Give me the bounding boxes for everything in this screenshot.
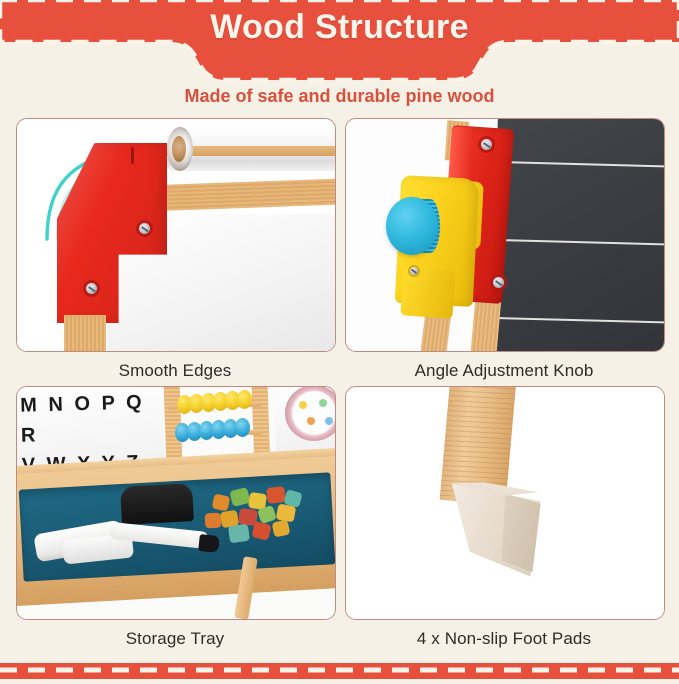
chalkboard-line-icon bbox=[495, 239, 665, 246]
feature-caption-storage-tray: Storage Tray bbox=[16, 629, 334, 649]
feature-caption-smooth-edges: Smooth Edges bbox=[16, 361, 334, 381]
magnetic-letter-icon bbox=[212, 494, 231, 512]
abacus-bead-yellow-icon bbox=[237, 390, 252, 409]
marker-tip-icon bbox=[198, 534, 220, 553]
paper-roll-core-icon bbox=[172, 136, 186, 162]
screw-icon bbox=[410, 267, 418, 275]
chalkboard-line-icon bbox=[493, 317, 665, 324]
chalkboard-line-icon bbox=[497, 161, 665, 168]
feature-caption-angle-adjustment-knob: Angle Adjustment Knob bbox=[345, 361, 663, 381]
footer-bar bbox=[0, 663, 679, 679]
footer-bar-shape bbox=[0, 663, 679, 679]
abacus-bead-blue-icon bbox=[235, 418, 250, 437]
feature-photo-non-slip-foot-pads bbox=[345, 386, 665, 620]
chalkboard-icon bbox=[491, 118, 665, 352]
magnetic-letter-icon bbox=[266, 486, 286, 504]
screw-icon bbox=[139, 223, 150, 234]
feature-photo-smooth-edges bbox=[16, 118, 336, 352]
page-title: Wood Structure bbox=[0, 8, 679, 47]
screw-icon bbox=[86, 283, 97, 294]
feature-grid: Smooth Edges bbox=[0, 118, 679, 663]
clock-graphic-icon bbox=[285, 386, 336, 441]
clock-dot-icon bbox=[307, 417, 315, 425]
magnetic-letter-icon bbox=[228, 524, 250, 544]
screw-icon bbox=[493, 277, 504, 288]
feature-cell-angle-adjustment-knob: Angle Adjustment Knob bbox=[345, 118, 663, 381]
feature-cell-storage-tray: M N O P Q R V W X Y Z bbox=[16, 386, 334, 649]
bracket-slit-icon bbox=[131, 147, 134, 164]
clock-dot-icon bbox=[299, 401, 307, 409]
screw-icon bbox=[481, 139, 492, 150]
feature-photo-angle-adjustment-knob bbox=[345, 118, 665, 352]
yellow-bracket-foot-icon bbox=[400, 267, 455, 319]
wood-leg-icon bbox=[64, 315, 106, 352]
magnetic-letter-icon bbox=[204, 512, 221, 528]
feature-photo-storage-tray: M N O P Q R V W X Y Z bbox=[16, 386, 336, 620]
page-subtitle: Made of safe and durable pine wood bbox=[0, 86, 679, 107]
feature-cell-non-slip-foot-pads: 4 x Non-slip Foot Pads bbox=[345, 386, 663, 649]
alphabet-line-1: M N O P Q R bbox=[20, 387, 152, 450]
eraser-icon bbox=[120, 483, 194, 525]
clock-dot-icon bbox=[325, 417, 333, 425]
feature-cell-smooth-edges: Smooth Edges bbox=[16, 118, 334, 381]
header-banner: Wood Structure bbox=[0, 0, 679, 92]
feature-caption-non-slip-foot-pads: 4 x Non-slip Foot Pads bbox=[345, 629, 663, 649]
clock-dot-icon bbox=[319, 399, 327, 407]
infographic-page: Wood Structure Made of safe and durable … bbox=[0, 0, 679, 679]
adjustment-knob-icon bbox=[386, 197, 438, 255]
